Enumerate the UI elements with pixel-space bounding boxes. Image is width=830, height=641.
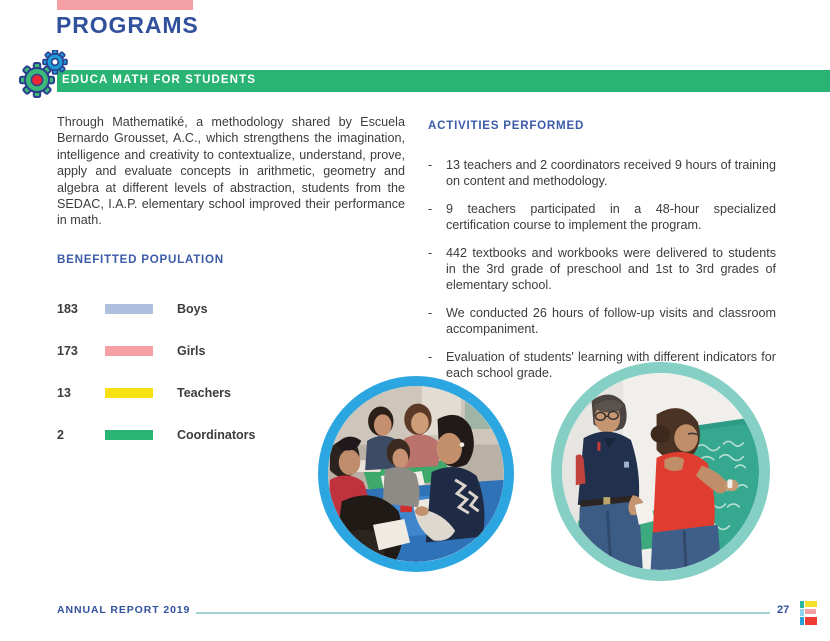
- page-number: 27: [777, 604, 789, 616]
- chart-swatch: [105, 346, 153, 356]
- chart-category-label: Girls: [177, 344, 206, 358]
- educa-e-logo: [800, 601, 820, 625]
- list-item-text: 442 textbooks and workbooks were deliver…: [446, 245, 776, 294]
- chart-swatch-cell: [105, 346, 177, 356]
- bullet-dash-icon: -: [428, 305, 446, 338]
- list-item: - 9 teachers participated in a 48-hour s…: [428, 201, 776, 234]
- chart-swatch-cell: [105, 430, 177, 440]
- chart-row: 173 Girls: [57, 330, 387, 372]
- chart-value: 2: [57, 428, 105, 442]
- list-item-text: 13 teachers and 2 coordinators received …: [446, 157, 776, 190]
- chart-category-label: Teachers: [177, 386, 231, 400]
- chart-value: 183: [57, 302, 105, 316]
- photo-math-workshop: [318, 376, 514, 572]
- intro-paragraph: Through Mathematiké, a methodology share…: [57, 114, 405, 229]
- bullet-dash-icon: -: [428, 201, 446, 234]
- footer-rule: [196, 612, 770, 614]
- chart-row: 13 Teachers: [57, 372, 387, 414]
- pink-accent-bar: [57, 0, 193, 10]
- chart-swatch: [105, 430, 153, 440]
- chart-swatch-cell: [105, 304, 177, 314]
- activities-performed-heading: ACTIVITIES PERFORMED: [428, 119, 584, 132]
- list-item-text: We conducted 26 hours of follow-up visit…: [446, 305, 776, 338]
- chart-category-label: Coordinators: [177, 428, 255, 442]
- list-item: - Evaluation of students' learning with …: [428, 349, 776, 382]
- list-item: - 13 teachers and 2 coordinators receive…: [428, 157, 776, 190]
- bullet-dash-icon: -: [428, 245, 446, 294]
- photo-classroom-chalkboard-image: [562, 373, 759, 570]
- chart-swatch: [105, 388, 153, 398]
- list-item-text: 9 teachers participated in a 48-hour spe…: [446, 201, 776, 234]
- chart-swatch: [105, 304, 153, 314]
- list-item: - 442 textbooks and workbooks were deliv…: [428, 245, 776, 294]
- gears-icon: [15, 50, 77, 98]
- photo-math-workshop-image: [328, 386, 504, 562]
- chart-value: 173: [57, 344, 105, 358]
- photo-classroom-chalkboard: [551, 362, 770, 581]
- activities-list: - 13 teachers and 2 coordinators receive…: [428, 157, 776, 392]
- list-item: - We conducted 26 hours of follow-up vis…: [428, 305, 776, 338]
- page-title: PROGRAMS: [56, 12, 199, 39]
- chart-swatch-cell: [105, 388, 177, 398]
- program-banner-label: EDUCA MATH FOR STUDENTS: [62, 74, 256, 86]
- chart-category-label: Boys: [177, 302, 208, 316]
- annual-report-page: { "page": { "title": "PROGRAMS", "accent…: [0, 0, 830, 641]
- benefitted-population-heading: BENEFITTED POPULATION: [57, 253, 224, 266]
- chart-value: 13: [57, 386, 105, 400]
- chart-row: 183 Boys: [57, 288, 387, 330]
- bullet-dash-icon: -: [428, 157, 446, 190]
- footer-label: ANNUAL REPORT 2019: [57, 604, 190, 616]
